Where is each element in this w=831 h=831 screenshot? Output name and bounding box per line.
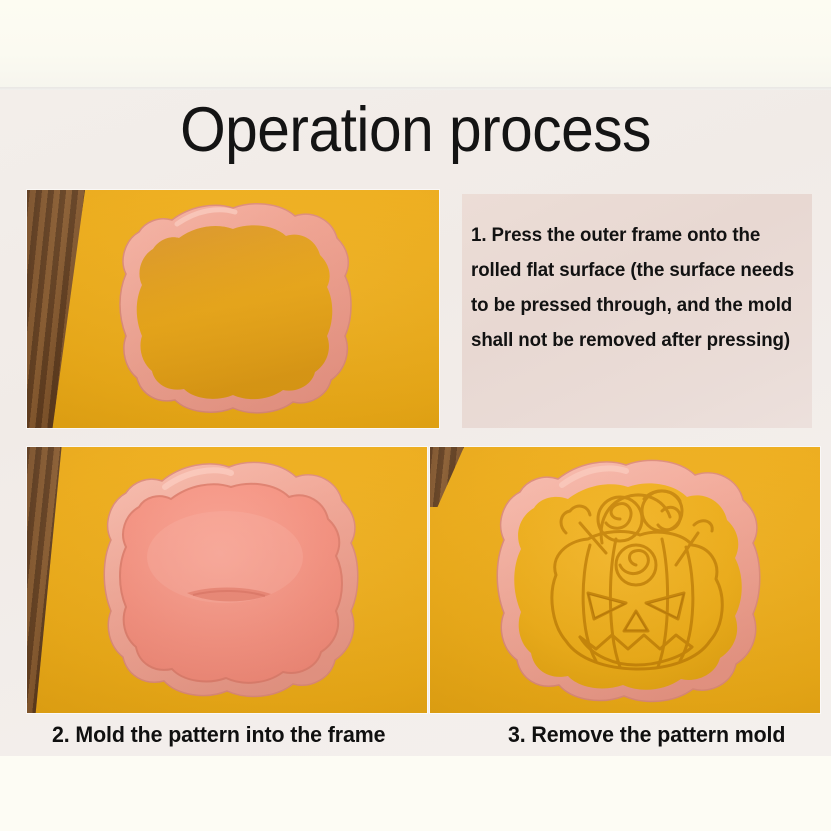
pattern-mold-icon bbox=[27, 447, 427, 713]
step-3-caption: 3. Remove the pattern mold bbox=[508, 722, 785, 748]
top-band bbox=[0, 0, 831, 89]
panel-pattern-in-frame bbox=[27, 447, 427, 713]
operation-process-page: Operation process bbox=[0, 0, 831, 831]
panel-outer-frame-on-dough bbox=[27, 190, 439, 428]
panel-pattern-revealed bbox=[430, 447, 820, 713]
step-1-instruction-box: 1. Press the outer frame onto the rolled… bbox=[462, 194, 812, 428]
bottom-band bbox=[0, 756, 831, 831]
step-1-instruction-text: 1. Press the outer frame onto the rolled… bbox=[471, 218, 797, 358]
page-title: Operation process bbox=[29, 96, 802, 164]
outer-frame-icon bbox=[27, 190, 439, 428]
pumpkin-mold-icon bbox=[430, 447, 820, 713]
step-2-caption: 2. Mold the pattern into the frame bbox=[52, 722, 385, 748]
